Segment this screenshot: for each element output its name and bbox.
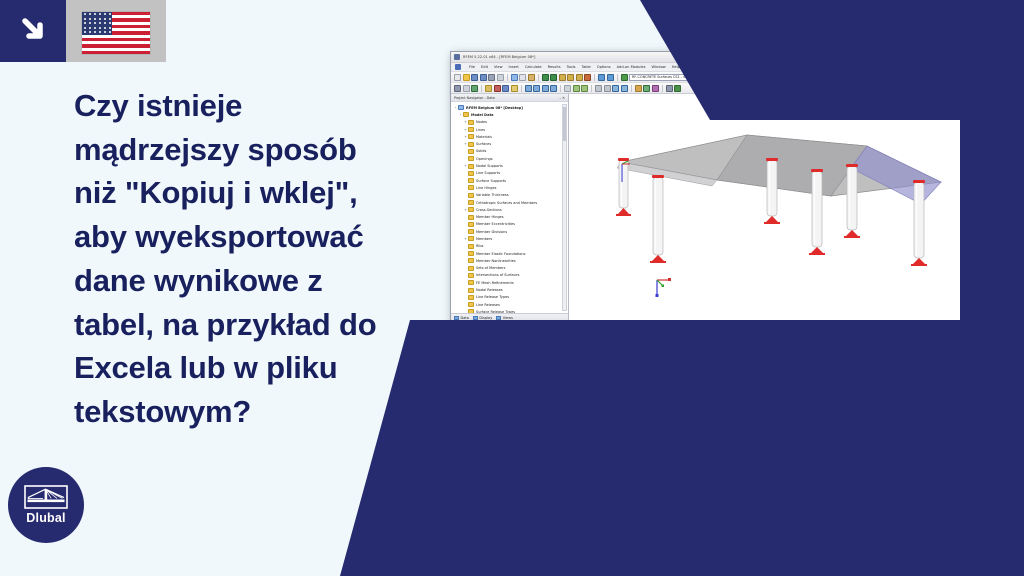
tree-item-label: Nodal Releases <box>476 288 503 292</box>
toolbar-icon-calculate[interactable] <box>621 74 628 81</box>
tree-folder-icon <box>468 295 474 300</box>
tree-item[interactable]: Sets of Members <box>453 265 568 272</box>
tree-item[interactable]: +Surfaces <box>453 140 568 147</box>
menu-item-tools[interactable]: Tools <box>567 65 576 69</box>
app-icon <box>454 54 460 60</box>
toolbar2-icon-line[interactable] <box>471 85 478 92</box>
tree-item[interactable]: Line Hinges <box>453 184 568 191</box>
tree-item-label: Variable Thickness <box>476 193 509 197</box>
toolbar2-icon-section[interactable] <box>652 85 659 92</box>
tree-item-label: Solids <box>476 149 486 153</box>
menu-item-edit[interactable]: Edit <box>481 65 488 69</box>
tree-folder-icon <box>468 185 474 190</box>
toolbar2-icon-mesh-show[interactable] <box>621 85 628 92</box>
toolbar-icon-pan[interactable] <box>584 74 591 81</box>
toolbar2-icon-grid[interactable] <box>564 85 571 92</box>
tree-item-label: Materials <box>476 135 492 139</box>
tree-folder-icon <box>468 171 474 176</box>
toolbar-icon-open[interactable] <box>463 74 470 81</box>
tree-item[interactable]: Ribs <box>453 243 568 250</box>
tree-item[interactable]: -Model Data <box>453 111 568 118</box>
model-viewport[interactable] <box>569 94 961 322</box>
toolbar2-icon-extra-1[interactable] <box>666 85 673 92</box>
navigator-tab-display[interactable]: Display <box>473 316 492 320</box>
tree-item-label: Line Supports <box>476 171 500 175</box>
tree-item-label: Member Eccentricities <box>476 222 515 226</box>
toolbar-icon-preview[interactable] <box>497 74 504 81</box>
project-navigator[interactable]: Project Navigator - Data – ✕ -RFEM Belgi… <box>451 94 569 322</box>
toolbar2-icon-snap[interactable] <box>573 85 580 92</box>
tree-folder-icon <box>468 251 474 256</box>
toolbar2-icon-layer[interactable] <box>635 85 642 92</box>
tree-item[interactable]: FE Mesh Refinements <box>453 279 568 286</box>
toolbar-icon-zoom-fit[interactable] <box>576 74 583 81</box>
structural-model-3d <box>569 94 961 322</box>
tree-folder-icon <box>468 222 474 227</box>
tree-folder-icon <box>468 200 474 205</box>
tree-folder-icon <box>468 266 474 271</box>
tree-item-label: Nodal Supports <box>476 164 503 168</box>
tree-folder-icon <box>468 215 474 220</box>
toolbar-icon-undo[interactable] <box>542 74 549 81</box>
tree-folder-icon <box>468 288 474 293</box>
tree-folder-icon <box>468 244 474 249</box>
tree-folder-icon <box>468 302 474 307</box>
tree-item[interactable]: Member Divisions <box>453 228 568 235</box>
tree-item-label: RFEM Belgium 08* [Desktop] <box>466 106 523 110</box>
tree-item-label: Lines <box>476 128 485 132</box>
toolbar-icon-print[interactable] <box>488 74 495 81</box>
application-body: Project Navigator - Data – ✕ -RFEM Belgi… <box>451 94 961 322</box>
menu-item-view[interactable]: View <box>494 65 503 69</box>
tree-item[interactable]: Surface Supports <box>453 177 568 184</box>
toolbar-icon-save[interactable] <box>471 74 478 81</box>
tree-item-label: Line Release Types <box>476 295 509 299</box>
us-flag-icon <box>82 12 150 54</box>
navigator-close-icon[interactable]: – ✕ <box>559 96 565 100</box>
tree-folder-icon <box>468 134 474 139</box>
system-menu-icon[interactable] <box>455 64 461 70</box>
tree-item-label: Model Data <box>471 113 494 117</box>
tree-folder-icon <box>468 142 474 147</box>
toolbar2-icon-view-side[interactable] <box>550 85 557 92</box>
tree-item[interactable]: +Materials <box>453 133 568 140</box>
poster-root: Czy istnieje mądrzejszy sposób niż "Kopi… <box>0 0 1024 576</box>
toolbar2-icon-mesh[interactable] <box>612 85 619 92</box>
navy-right-band <box>960 0 1024 576</box>
navigator-tab-data[interactable]: Data <box>454 316 469 320</box>
toolbar-icon-zoom-in[interactable] <box>559 74 566 81</box>
tree-item[interactable]: Solids <box>453 148 568 155</box>
toolbar2-icon-view-iso[interactable] <box>525 85 532 92</box>
toolbar-icon-saveas[interactable] <box>480 74 487 81</box>
arrow-down-right-icon <box>18 14 52 48</box>
tree-folder-icon <box>468 309 474 313</box>
tree-item[interactable]: Member Elastic Foundations <box>453 250 568 257</box>
menu-item-file[interactable]: File <box>469 65 475 69</box>
toolbar2-icon-view-top[interactable] <box>533 85 540 92</box>
dlubal-logo: Dlubal <box>8 467 84 543</box>
tree-item[interactable]: +Members <box>453 235 568 242</box>
toolbar2-icon-surface[interactable] <box>485 85 492 92</box>
tree-item[interactable]: -RFEM Belgium 08* [Desktop] <box>453 104 568 111</box>
tree-item[interactable]: Line Release Types <box>453 294 568 301</box>
menu-item-options[interactable]: Options <box>597 65 611 69</box>
toolbar2-icon-view-front[interactable] <box>542 85 549 92</box>
tree-item[interactable]: +Cross-Sections <box>453 206 568 213</box>
tree-item[interactable]: Line Releases <box>453 301 568 308</box>
navy-wedge-bottom <box>340 320 1024 576</box>
tree-item-label: Intersections of Surfaces <box>476 273 519 277</box>
tree-folder-icon <box>468 149 474 154</box>
truss-frame-icon <box>24 485 68 509</box>
menu-item-window[interactable]: Window <box>652 65 666 69</box>
tree-item-label: Line Releases <box>476 303 500 307</box>
tree-item-label: Surface Supports <box>476 179 506 183</box>
tree-item-label: Sets of Members <box>476 266 505 270</box>
tree-folder-icon <box>468 273 474 278</box>
toolbar-icon-redo[interactable] <box>550 74 557 81</box>
tree-item-label: Openings <box>476 157 493 161</box>
tree-item-label: Surface Release Types <box>476 310 515 313</box>
tree-item[interactable]: +Nodal Supports <box>453 162 568 169</box>
tree-item[interactable]: Orthotropic Surfaces and Members <box>453 199 568 206</box>
toolbar-icon-new[interactable] <box>454 74 461 81</box>
toolbar2-icon-osnap[interactable] <box>581 85 588 92</box>
tree-item-label: Line Hinges <box>476 186 496 190</box>
toolbar-icon-paste[interactable] <box>528 74 535 81</box>
tree-item[interactable]: +Lines <box>453 126 568 133</box>
tree-item-label: Cross-Sections <box>476 208 502 212</box>
coordinate-axes-icon <box>653 276 675 298</box>
tree-item-label: Members <box>476 237 492 241</box>
toolbar2-icon-select[interactable] <box>454 85 461 92</box>
tree-item-label: Surfaces <box>476 142 491 146</box>
tree-folder-icon <box>468 178 474 183</box>
toolbar2-icon-member[interactable] <box>494 85 501 92</box>
navigator-header: Project Navigator - Data – ✕ <box>451 94 568 102</box>
toolbar2-icon-extra-2[interactable] <box>674 85 681 92</box>
tree-item[interactable]: Intersections of Surfaces <box>453 272 568 279</box>
menu-item-table[interactable]: Table <box>581 65 590 69</box>
tree-folder-icon <box>468 164 474 169</box>
tree-item[interactable]: Nodal Releases <box>453 286 568 293</box>
flag-canton <box>82 12 112 35</box>
toolbar-icon-zoom-out[interactable] <box>567 74 574 81</box>
tree-item-label: Member Elastic Foundations <box>476 252 525 256</box>
menu-item-calculate[interactable]: Calculate <box>525 65 542 69</box>
tree-folder-icon <box>458 105 464 110</box>
toolbar2-icon-node[interactable] <box>463 85 470 92</box>
tree-folder-icon <box>468 120 474 125</box>
tree-folder-icon <box>468 229 474 234</box>
menu-item-addons[interactable]: Add-on Modules <box>617 65 646 69</box>
tree-item[interactable]: Openings <box>453 155 568 162</box>
tree-folder-icon <box>468 236 474 241</box>
tree-item-label: Member Nonlinearities <box>476 259 516 263</box>
tree-item[interactable]: Member Eccentricities <box>453 221 568 228</box>
tree-folder-icon <box>468 127 474 132</box>
tree-folder-icon <box>468 207 474 212</box>
tree-item[interactable]: Member Nonlinearities <box>453 257 568 264</box>
navigator-tab-views[interactable]: Views <box>496 316 513 320</box>
tree-folder-icon <box>468 280 474 285</box>
tree-item[interactable]: Member Hinges <box>453 213 568 220</box>
tree-folder-icon <box>468 156 474 161</box>
headline-text: Czy istnieje mądrzejszy sposób niż "Kopi… <box>74 84 444 434</box>
toolbar-icon-copy[interactable] <box>519 74 526 81</box>
dlubal-wordmark: Dlubal <box>26 511 65 525</box>
tree-item[interactable]: Variable Thickness <box>453 192 568 199</box>
navigator-scrollbar[interactable] <box>562 104 567 311</box>
tree-item[interactable]: Line Supports <box>453 170 568 177</box>
tree-item-label: Ribs <box>476 244 483 248</box>
navigator-title: Project Navigator - Data <box>454 96 495 100</box>
toolbar2-icon-dim[interactable] <box>595 85 602 92</box>
menu-item-insert[interactable]: Insert <box>509 65 519 69</box>
menu-item-results[interactable]: Results <box>548 65 561 69</box>
toolbar-icon-render[interactable] <box>598 74 605 81</box>
toolbar2-icon-measure[interactable] <box>604 85 611 92</box>
toolbar-icon-wireframe[interactable] <box>607 74 614 81</box>
toolbar2-icon-load[interactable] <box>511 85 518 92</box>
toolbar2-icon-visibility[interactable] <box>643 85 650 92</box>
tree-folder-icon <box>468 258 474 263</box>
tree-item-label: Nodes <box>476 120 487 124</box>
tree-folder-icon <box>463 112 469 117</box>
window-title: RFEM 5.22.01 x64 - [RFEM Belgium 08*] <box>463 55 535 59</box>
tree-item[interactable]: +Nodes <box>453 119 568 126</box>
tree-item[interactable]: Surface Release Types <box>453 308 568 313</box>
tree-folder-icon <box>468 193 474 198</box>
navigator-tree[interactable]: -RFEM Belgium 08* [Desktop]-Model Data+N… <box>451 102 568 313</box>
tree-item-label: Member Hinges <box>476 215 504 219</box>
tree-item-label: Member Divisions <box>476 230 507 234</box>
toolbar2-icon-support[interactable] <box>502 85 509 92</box>
toolbar-icon-cut[interactable] <box>511 74 518 81</box>
tree-item-label: Orthotropic Surfaces and Members <box>476 201 537 205</box>
tree-item-label: FE Mesh Refinements <box>476 281 514 285</box>
